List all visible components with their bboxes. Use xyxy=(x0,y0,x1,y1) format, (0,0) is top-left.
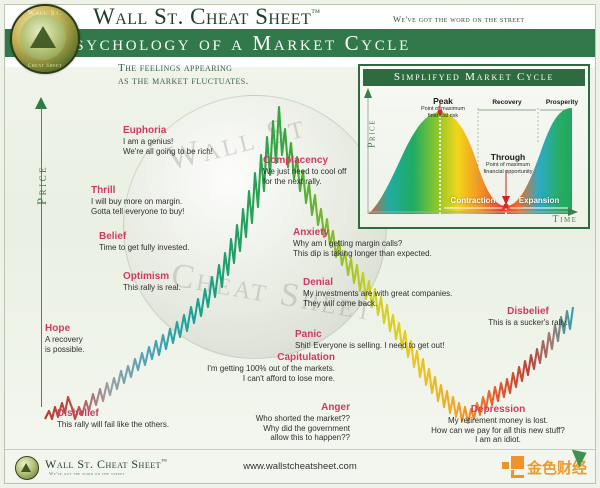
emotion-desc-line: How can we pay for all this new stuff? xyxy=(403,426,593,436)
emotion-title: Disbelief xyxy=(465,306,591,318)
recovery-label: Recovery xyxy=(478,99,536,106)
contraction-label: Contraction xyxy=(444,196,502,205)
emotion-title: Belief xyxy=(99,231,189,243)
emotion-title: Depression xyxy=(403,404,593,416)
brand-title-text: Wall St. Cheat Sheet xyxy=(93,4,311,29)
watermark-logo-icon xyxy=(502,456,524,478)
emotion-desc-line: I am a genius! xyxy=(123,137,213,147)
emotion-label-panic: Panic Shit! Everyone is selling. I need … xyxy=(295,329,444,351)
wall-st-seal-logo: Wall St. Cheat Sheet xyxy=(10,4,80,74)
emotion-desc-line: This rally is real. xyxy=(123,283,181,293)
emotion-desc-line: My investments are with great companies. xyxy=(303,289,452,299)
pyramid-icon xyxy=(30,26,56,48)
trademark-symbol: ™ xyxy=(311,7,320,17)
emotion-title: Euphoria xyxy=(123,125,213,137)
infographic-page: Wall St. Cheat Sheet™ We've got the word… xyxy=(0,0,600,488)
watermark-square-small xyxy=(502,462,509,469)
emotion-title: Denial xyxy=(303,277,452,289)
emotion-label-denial: Denial My investments are with great com… xyxy=(303,277,452,308)
emotion-label-euphoria: Euphoria I am a genius! We're all going … xyxy=(123,125,213,156)
inset-y-arrow-icon xyxy=(364,88,372,98)
emotion-desc-line: This dip is taking longer than expected. xyxy=(293,249,432,259)
page-title: Psychology of a Market Cycle xyxy=(61,30,411,56)
seal-top-label: Wall St. xyxy=(12,9,78,17)
emotion-desc-line: Why did the government xyxy=(210,424,350,434)
inset-price-axis-label: Price xyxy=(367,104,378,164)
emotion-title: Capitulation xyxy=(135,352,335,364)
emotion-label-optimism: Optimism This rally is real. xyxy=(123,271,181,293)
emotion-desc-line: I will buy more on margin. xyxy=(91,197,184,207)
emotion-desc-line: Why am I getting margin calls? xyxy=(293,239,432,249)
watermark-square-large xyxy=(511,456,524,469)
inset-time-axis-label: Time xyxy=(542,214,588,225)
emotion-desc-line: allow this to happen?? xyxy=(210,433,350,443)
emotion-desc-line: This is a sucker's rally. xyxy=(465,318,591,328)
emotion-desc-line: I am an idiot. xyxy=(403,435,593,445)
emotion-label-belief: Belief Time to get fully invested. xyxy=(99,231,189,253)
emotion-title: Complacency xyxy=(263,155,346,167)
emotion-desc-line: A recovery xyxy=(45,335,85,345)
emotion-desc-line: They will come back. xyxy=(303,299,452,309)
emotion-title: Thrill xyxy=(91,185,184,197)
header: Wall St. Cheat Sheet™ We've got the word… xyxy=(5,5,595,67)
emotion-desc-line: We just need to cool off xyxy=(263,167,346,177)
emotion-label-anxiety: Anxiety Why am I getting margin calls? T… xyxy=(293,227,432,258)
emotion-label-capitulation: Capitulation I'm getting 100% out of the… xyxy=(135,352,335,383)
publisher-watermark: 金色财经 xyxy=(502,454,587,480)
brand-title: Wall St. Cheat Sheet™ xyxy=(93,4,321,30)
emotion-label-depression: Depression My retirement money is lost. … xyxy=(403,404,593,445)
emotion-label-anger: Anger Who shorted the market?? Why did t… xyxy=(210,402,350,443)
expansion-label: Expansion xyxy=(510,196,568,205)
emotion-desc-line: I'm getting 100% out of the markets. xyxy=(135,364,335,374)
emotion-label-thrill: Thrill I will buy more on margin. Gotta … xyxy=(91,185,184,216)
peak-sublabel-1: Point of maximum xyxy=(400,106,486,113)
emotion-desc-line: Gotta tell everyone to buy! xyxy=(91,207,184,217)
emotion-desc-line: for the next rally. xyxy=(263,177,346,187)
trough-arrow-icon xyxy=(502,196,510,205)
header-tagline: We've got the word on the street xyxy=(393,14,524,24)
inset-title: Simplifyed Market Cycle xyxy=(363,69,585,86)
emotion-title: Hope xyxy=(45,323,85,335)
emotion-desc-line: Shit! Everyone is selling. I need to get… xyxy=(295,341,444,351)
emotion-desc-line: Time to get fully invested. xyxy=(99,243,189,253)
emotion-desc-line: We're all going to be rich! xyxy=(123,147,213,157)
emotion-desc-line: Who shorted the market?? xyxy=(210,414,350,424)
simplified-market-cycle-panel: Simplifyed Market Cycle xyxy=(358,64,590,229)
emotion-title: Panic xyxy=(295,329,444,341)
emotion-label-disbelief-2: Disbelief This is a sucker's rally. xyxy=(465,306,591,328)
emotion-desc-line: is possible. xyxy=(45,345,85,355)
emotion-desc-line: This rally will fail like the others. xyxy=(57,420,169,430)
footer: Wall St. Cheat Sheet™ We've got the word… xyxy=(5,449,595,483)
emotion-title: Optimism xyxy=(123,271,181,283)
prosperity-label: Prosperity xyxy=(536,99,588,106)
seal-inner-disc xyxy=(20,14,66,60)
emotion-title: Anger xyxy=(210,402,350,414)
trough-label: Through xyxy=(472,152,544,162)
trough-sublabel-2: financial opportunity xyxy=(464,169,552,176)
peak-sublabel-2: financial risk xyxy=(400,113,486,120)
emotion-desc-line: My retirement money is lost. xyxy=(403,416,593,426)
trough-sublabel-1: Point of maximum xyxy=(464,162,552,169)
emotion-label-disbelief-1: Disbelief This rally will fail like the … xyxy=(57,408,169,430)
emotion-label-complacency: Complacency We just need to cool off for… xyxy=(263,155,346,186)
emotion-title: Disbelief xyxy=(57,408,169,420)
peak-label: Peak xyxy=(408,96,478,106)
watermark-corner-mark xyxy=(511,470,524,478)
emotion-desc-line: I can't afford to lose more. xyxy=(135,374,335,384)
emotion-label-hope: Hope A recovery is possible. xyxy=(45,323,85,354)
